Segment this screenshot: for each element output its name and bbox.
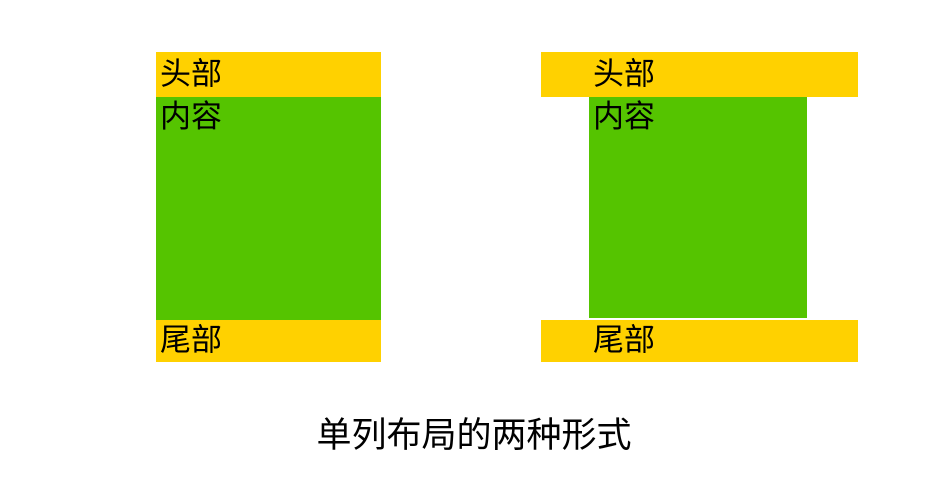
variant-b-content-band: 内容 xyxy=(589,97,807,318)
variant-a-content-band: 内容 xyxy=(156,97,381,320)
layout-variant-wide-header-footer: 头部 内容 尾部 xyxy=(541,52,858,362)
variant-a-footer-band: 尾部 xyxy=(156,320,381,362)
figure-caption: 单列布局的两种形式 xyxy=(0,414,948,458)
variant-a-content-label: 内容 xyxy=(160,102,222,133)
variant-b-footer-label: 尾部 xyxy=(593,326,655,357)
variant-a-header-label: 头部 xyxy=(160,59,222,90)
variant-b-content-label: 内容 xyxy=(593,102,655,133)
variant-b-footer-band: 尾部 xyxy=(541,320,858,362)
variant-b-header-band: 头部 xyxy=(541,52,858,97)
diagram-canvas: 头部 内容 尾部 头部 内容 尾部 单列布局的两种形式 xyxy=(0,0,948,488)
variant-a-footer-label: 尾部 xyxy=(160,326,222,357)
layout-variant-uniform-column: 头部 内容 尾部 xyxy=(156,52,381,362)
variant-a-header-band: 头部 xyxy=(156,52,381,97)
variant-b-header-label: 头部 xyxy=(593,59,655,90)
